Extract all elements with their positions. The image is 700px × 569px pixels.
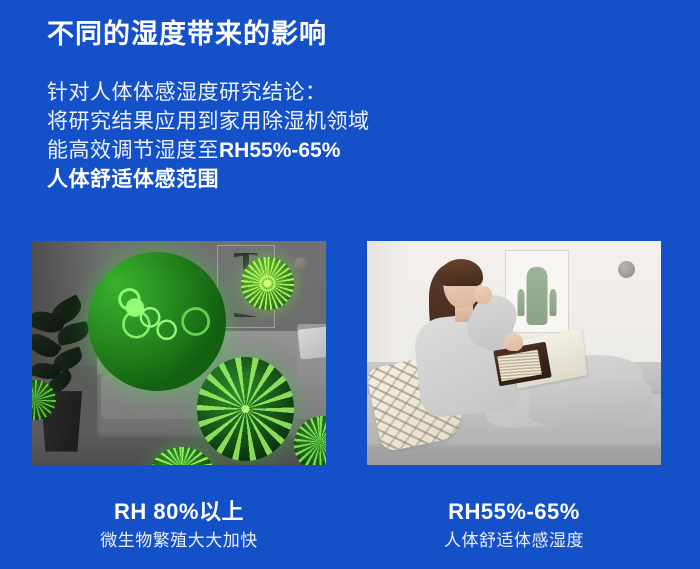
caption-row: RH 80%以上 微生物繁殖大大加快 RH55%-65% 人体舒适体感湿度: [0, 498, 700, 569]
body-line-1: 针对人体体感湿度研究结论：: [47, 78, 370, 107]
caption-subtitle: 人体舒适体感湿度: [367, 529, 661, 553]
slide-root: 不同的湿度带来的影响 针对人体体感湿度研究结论： 将研究结果应用到家用除湿机领域…: [0, 0, 700, 569]
microbe-icon: [241, 257, 294, 311]
photo-comfort-humidity: [367, 241, 661, 465]
page-title: 不同的湿度带来的影响: [47, 18, 327, 50]
body-line-2: 将研究结果应用到家用除湿机领域: [47, 107, 370, 136]
woman-hand-holding-book: [504, 333, 523, 351]
caption-comfort-humidity: RH55%-65% 人体舒适体感湿度: [367, 498, 661, 553]
dark-room-scene: [32, 241, 326, 465]
body-line-3: 能高效调节湿度至RH55%-65%: [47, 136, 370, 165]
body-line-4: 人体舒适体感范围: [47, 165, 370, 194]
body-line-3-highlight: RH55%-65%: [219, 139, 340, 162]
caption-title: RH 80%以上: [32, 498, 326, 526]
photo-row: [0, 241, 700, 465]
wall-knob-icon: [294, 257, 308, 271]
microbe-icon: [88, 252, 226, 391]
sofa-base: [367, 446, 661, 465]
caption-high-humidity: RH 80%以上 微生物繁殖大大加快: [32, 498, 326, 553]
caption-title: RH55%-65%: [367, 498, 661, 526]
wall-knob-icon: [618, 261, 635, 278]
photo-high-humidity: [32, 241, 326, 465]
body-copy: 针对人体体感湿度研究结论： 将研究结果应用到家用除湿机领域 能高效调节湿度至RH…: [47, 78, 370, 194]
caption-subtitle: 微生物繁殖大大加快: [32, 529, 326, 553]
sofa-pillow: [298, 327, 326, 360]
woman-hand-on-face: [474, 286, 492, 304]
body-line-3-prefix: 能高效调节湿度至: [47, 139, 219, 162]
light-room-scene: [367, 241, 661, 465]
microbe-icon: [197, 357, 294, 460]
cactus-illustration: [527, 267, 548, 325]
